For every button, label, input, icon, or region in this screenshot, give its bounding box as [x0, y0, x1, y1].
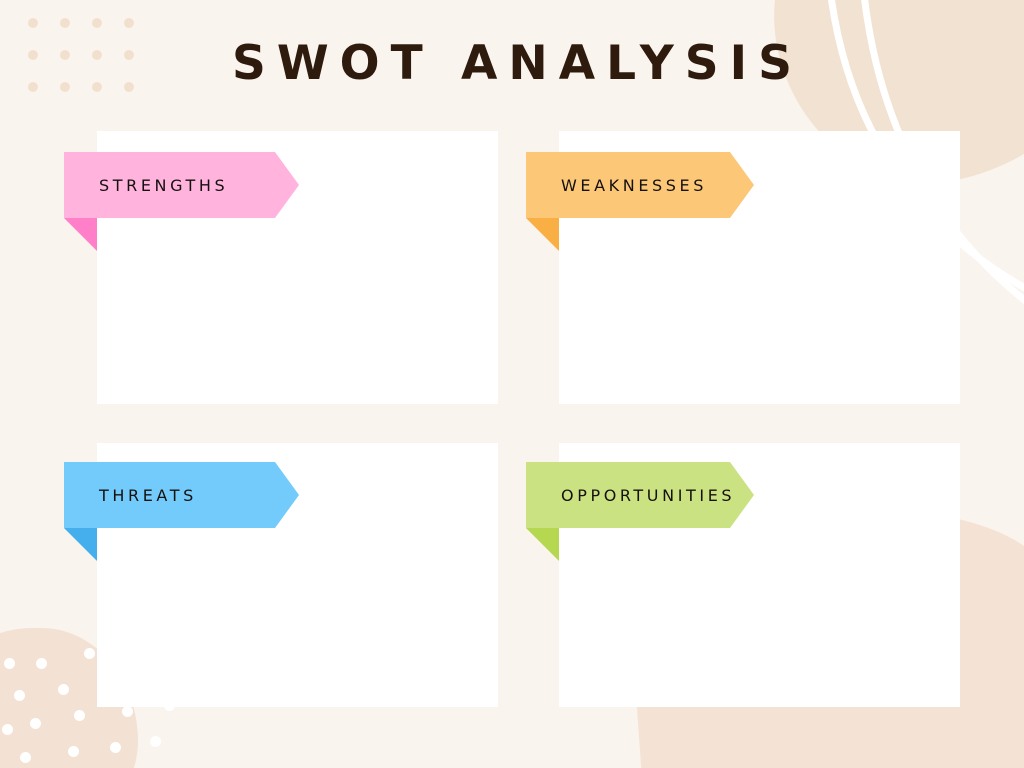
banner-tail-weaknesses: [526, 218, 559, 251]
banner-label-opportunities: OPPORTUNITIES: [526, 486, 735, 505]
banner-label-weaknesses: WEAKNESSES: [526, 176, 707, 195]
banner-label-strengths: STRENGTHS: [64, 176, 228, 195]
banner-body-weaknesses: WEAKNESSES: [526, 152, 754, 218]
banner-tail-opportunities: [526, 528, 559, 561]
banner-weaknesses[interactable]: WEAKNESSES: [526, 152, 754, 218]
banner-threats[interactable]: THREATS: [64, 462, 299, 528]
banner-body-opportunities: OPPORTUNITIES: [526, 462, 754, 528]
banner-tail-threats: [64, 528, 97, 561]
banner-opportunities[interactable]: OPPORTUNITIES: [526, 462, 754, 528]
banner-body-threats: THREATS: [64, 462, 299, 528]
page-title: SWOT ANALYSIS: [0, 40, 1024, 87]
banner-strengths[interactable]: STRENGTHS: [64, 152, 299, 218]
banner-body-strengths: STRENGTHS: [64, 152, 299, 218]
swot-poster: SWOT ANALYSIS STRENGTHS WEAKNESSES THREA…: [0, 0, 1024, 768]
banner-label-threats: THREATS: [64, 486, 197, 505]
banner-tail-strengths: [64, 218, 97, 251]
